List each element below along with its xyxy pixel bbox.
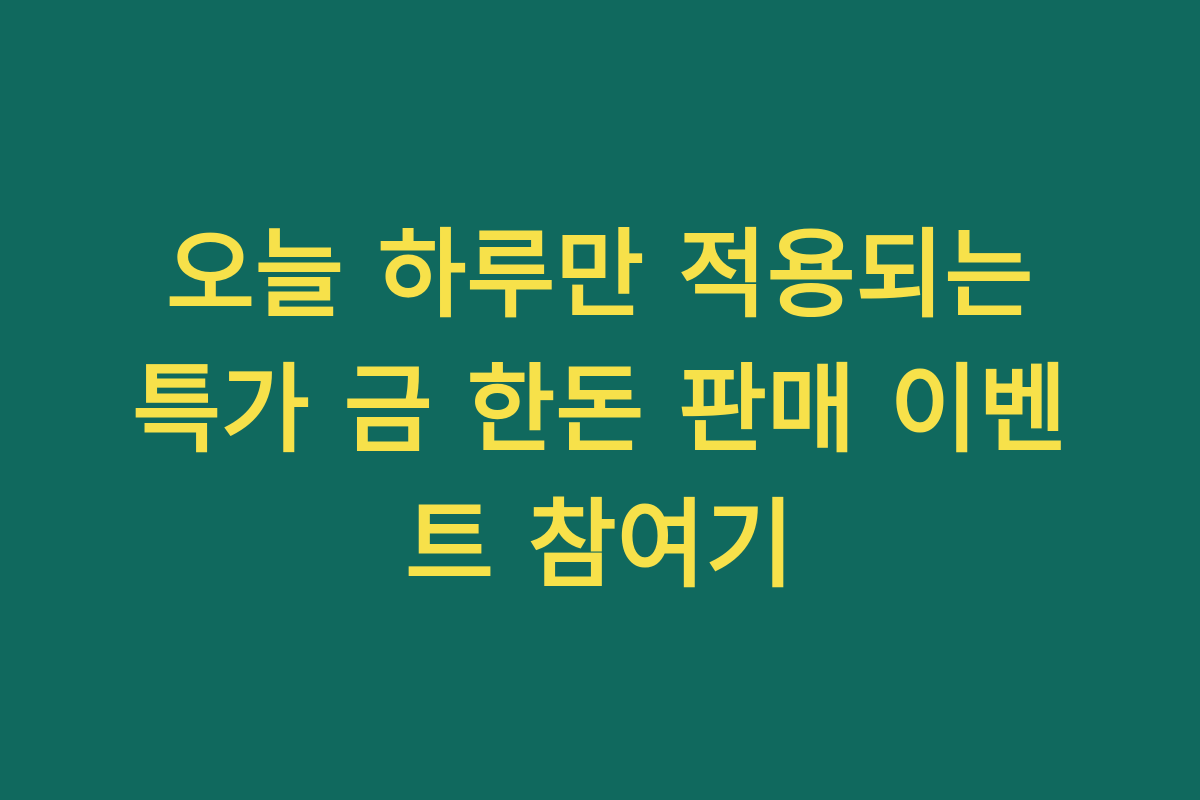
banner-canvas: 오늘 하루만 적용되는 특가 금 한돈 판매 이벤 트 참여기: [0, 0, 1200, 800]
headline-line-3: 트 참여기: [100, 478, 1100, 613]
headline-line-1: 오늘 하루만 적용되는: [100, 208, 1100, 343]
headline-line-2: 특가 금 한돈 판매 이벤: [100, 343, 1100, 478]
banner-headline: 오늘 하루만 적용되는 특가 금 한돈 판매 이벤 트 참여기: [100, 208, 1100, 613]
